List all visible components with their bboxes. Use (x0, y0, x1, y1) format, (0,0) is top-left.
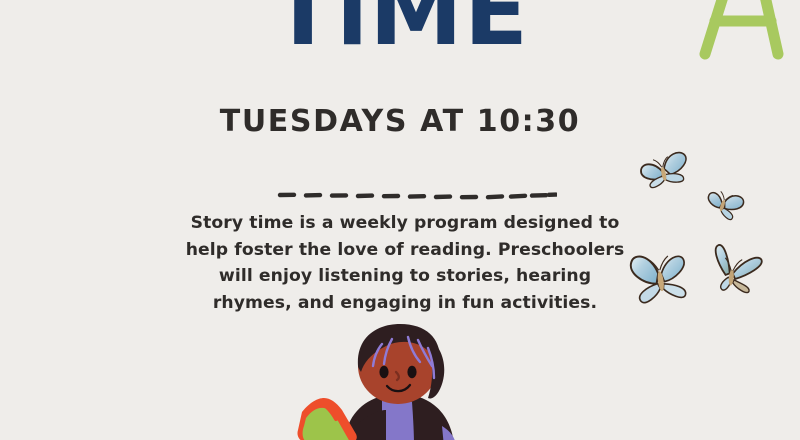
butterfly-icon-1 (632, 147, 694, 199)
butterfly-icon-2 (700, 182, 748, 226)
poster-title: TiME (0, 0, 800, 60)
butterfly-icon-3 (622, 243, 702, 315)
poster-body-text: Story time is a weekly program designed … (180, 210, 630, 316)
child-reading-illustration (282, 322, 512, 440)
story-time-poster: TiME TUESDAYS AT 10:30 Story time is a w… (0, 0, 800, 440)
butterfly-icon-4 (700, 240, 772, 302)
dashed-divider (277, 186, 557, 196)
poster-subtitle: TUESDAYS AT 10:30 (0, 104, 800, 139)
